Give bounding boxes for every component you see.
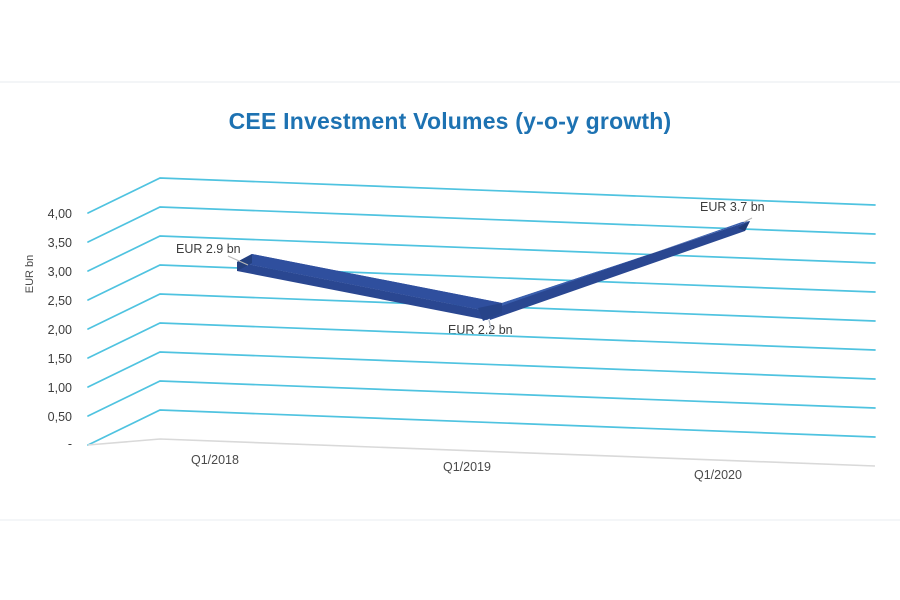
axis-baseline: [88, 439, 875, 466]
series-seg2-body: [487, 221, 750, 320]
series-seg1-front-face: [237, 262, 487, 320]
gridline-1-00: [88, 381, 875, 416]
gridline-4-50: [88, 178, 875, 213]
chart-container: CEE Investment Volumes (y-o-y growth) EU…: [0, 0, 900, 600]
series-segment-descending: [237, 254, 502, 320]
gridline-3-50: [88, 236, 875, 271]
gridline-3-00: [88, 265, 875, 300]
gridline-4-00: [88, 207, 875, 242]
gridline-0-50: [88, 410, 875, 445]
gridline-2-00: [88, 323, 875, 358]
gridline-1-50: [88, 352, 875, 387]
series-segment-ascending: [487, 221, 750, 320]
plot-area-svg: [0, 0, 900, 600]
leader-line-point-2: [489, 320, 492, 333]
